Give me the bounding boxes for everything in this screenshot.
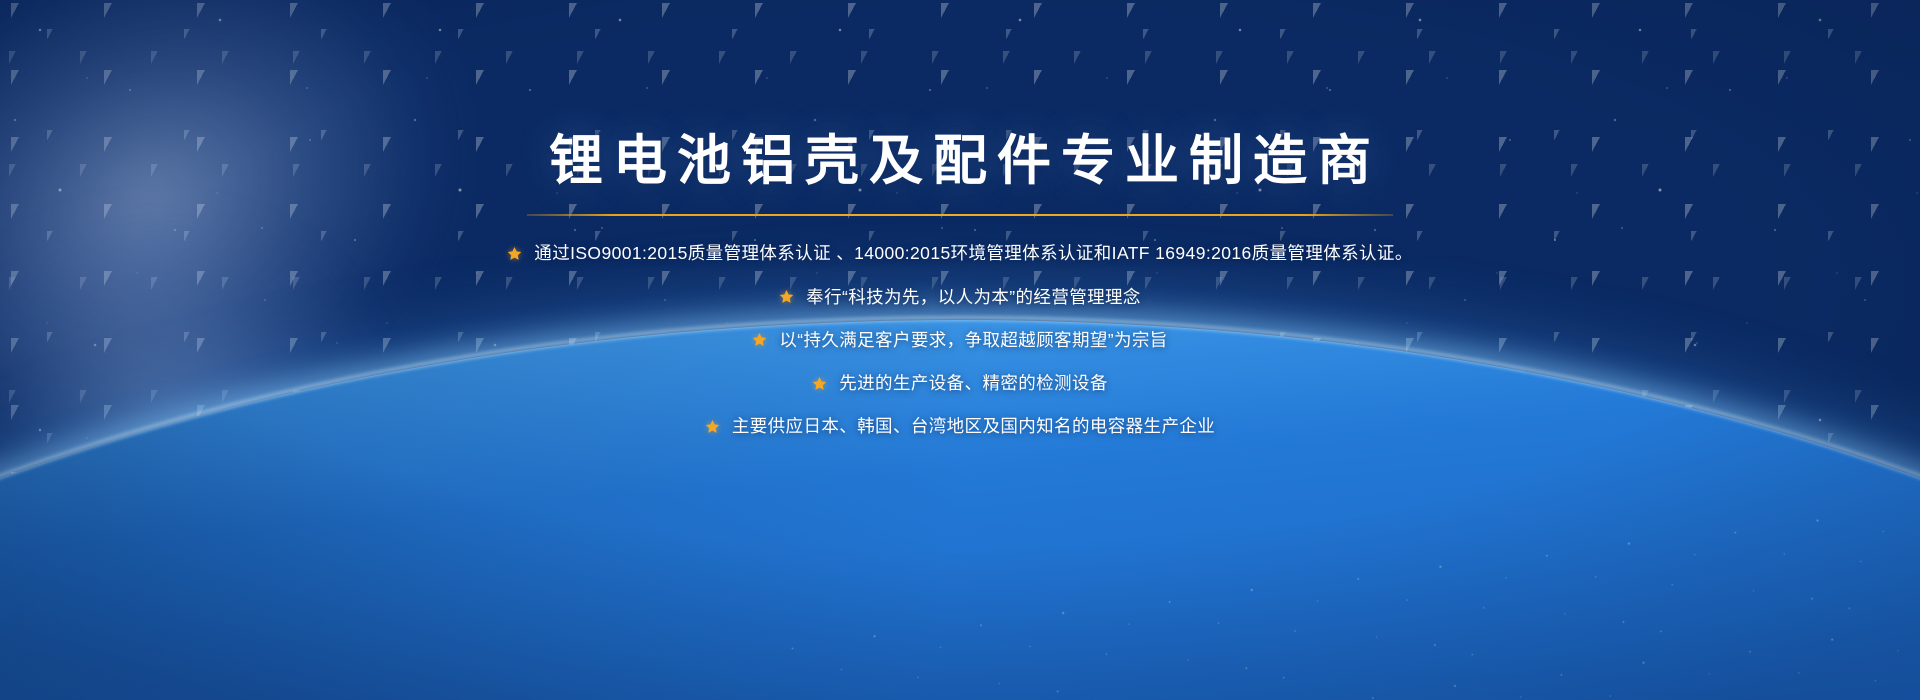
list-item-label: 先进的生产设备、精密的检测设备: [839, 370, 1108, 396]
headline-divider: [527, 214, 1393, 216]
star-icon: [779, 289, 794, 304]
list-item: 以“持久满足客户要求，争取超越顾客期望”为宗旨: [520, 327, 1400, 353]
star-icon: [705, 419, 720, 434]
list-item-label: 奉行“科技为先，以人为本”的经营管理理念: [806, 284, 1141, 310]
star-icon: [507, 246, 522, 261]
list-item-label: 以“持久满足客户要求，争取超越顾客期望”为宗旨: [779, 327, 1167, 353]
banner-headline: 锂电池铝壳及配件专业制造商: [539, 132, 1381, 190]
list-item: 奉行“科技为先，以人为本”的经营管理理念: [520, 284, 1400, 310]
list-item-label: 通过ISO9001:2015质量管理体系认证 、14000:2015环境管理体系…: [534, 240, 1412, 266]
hero-banner: 锂电池铝壳及配件专业制造商 通过ISO9001:2015质量管理体系认证 、14…: [0, 0, 1920, 700]
banner-content: 锂电池铝壳及配件专业制造商 通过ISO9001:2015质量管理体系认证 、14…: [0, 0, 1920, 700]
feature-bullet-list: 通过ISO9001:2015质量管理体系认证 、14000:2015环境管理体系…: [520, 240, 1400, 439]
list-item: 先进的生产设备、精密的检测设备: [520, 370, 1400, 396]
star-icon: [812, 376, 827, 391]
list-item: 通过ISO9001:2015质量管理体系认证 、14000:2015环境管理体系…: [520, 240, 1400, 266]
star-icon: [752, 332, 767, 347]
list-item: 主要供应日本、韩国、台湾地区及国内知名的电容器生产企业: [520, 413, 1400, 439]
list-item-label: 主要供应日本、韩国、台湾地区及国内知名的电容器生产企业: [732, 413, 1215, 439]
